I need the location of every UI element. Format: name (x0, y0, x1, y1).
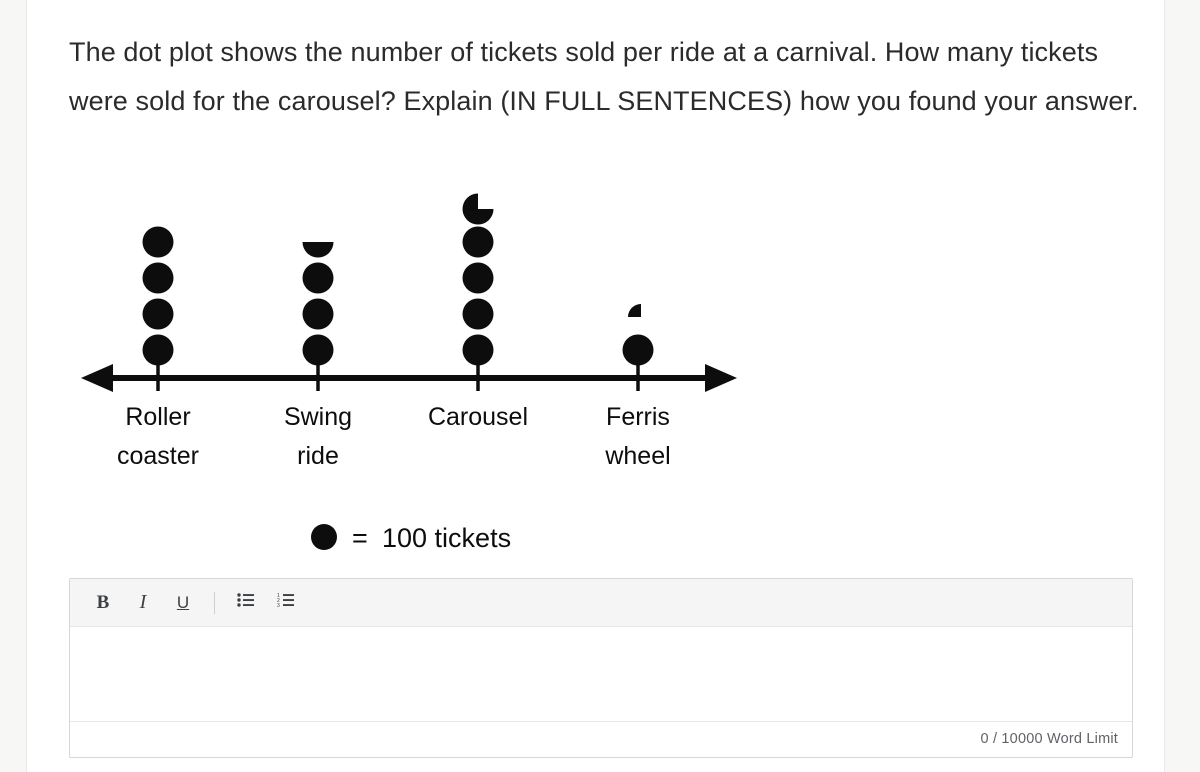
underline-button[interactable]: U (164, 586, 202, 620)
numbered-list-button[interactable]: 1 2 3 (267, 586, 305, 620)
italic-button[interactable]: I (124, 586, 162, 620)
question-card: The dot plot shows the number of tickets… (26, 0, 1165, 772)
legend-equals-sign: = (352, 523, 368, 553)
axis-label-ferris-wheel-line2: wheel (604, 442, 670, 470)
plot-axis (81, 364, 737, 392)
legend-text: 100 tickets (382, 523, 511, 553)
dot-stack-swing-ride (303, 227, 334, 366)
legend-dot-icon (311, 524, 337, 550)
toolbar-divider (214, 592, 215, 614)
dot-plot-svg: Roller coaster Swing ride Carousel Ferri… (69, 185, 749, 565)
dot-plot-figure: Roller coaster Swing ride Carousel Ferri… (69, 185, 749, 565)
answer-editor: B I U (69, 578, 1133, 758)
axis-label-swing-ride-line2: ride (297, 442, 339, 470)
svg-text:3: 3 (277, 603, 280, 608)
axis-label-carousel-line1: Carousel (428, 403, 528, 431)
editor-toolbar: B I U (70, 579, 1132, 627)
page-left-gutter (0, 0, 26, 772)
answer-text-input[interactable] (70, 627, 1132, 721)
partial-dot-ferris-wheel (628, 304, 654, 330)
page-right-gutter (1166, 0, 1200, 772)
axis-label-roller-coaster-line2: coaster (117, 442, 199, 470)
dot-stack-roller-coaster (143, 227, 174, 366)
bold-button[interactable]: B (84, 586, 122, 620)
axis-label-swing-ride-line1: Swing (284, 403, 352, 431)
word-limit-counter: 0 / 10000 Word Limit (980, 731, 1118, 747)
question-prompt: The dot plot shows the number of tickets… (69, 28, 1139, 126)
axis-label-roller-coaster-line1: Roller (125, 403, 190, 431)
bulleted-list-button[interactable] (227, 586, 265, 620)
numbered-list-icon: 1 2 3 (277, 592, 295, 613)
plot-legend: = 100 tickets (311, 523, 511, 553)
bulleted-list-icon (237, 592, 255, 613)
partial-dot-swing-ride (303, 227, 334, 258)
page-root: The dot plot shows the number of tickets… (0, 0, 1200, 772)
dot-stack-ferris-wheel (623, 304, 655, 366)
partial-dot-carousel (463, 194, 494, 225)
axis-label-ferris-wheel-line1: Ferris (606, 403, 670, 431)
editor-footer: 0 / 10000 Word Limit (70, 721, 1132, 756)
dot-stack-carousel (463, 194, 494, 366)
